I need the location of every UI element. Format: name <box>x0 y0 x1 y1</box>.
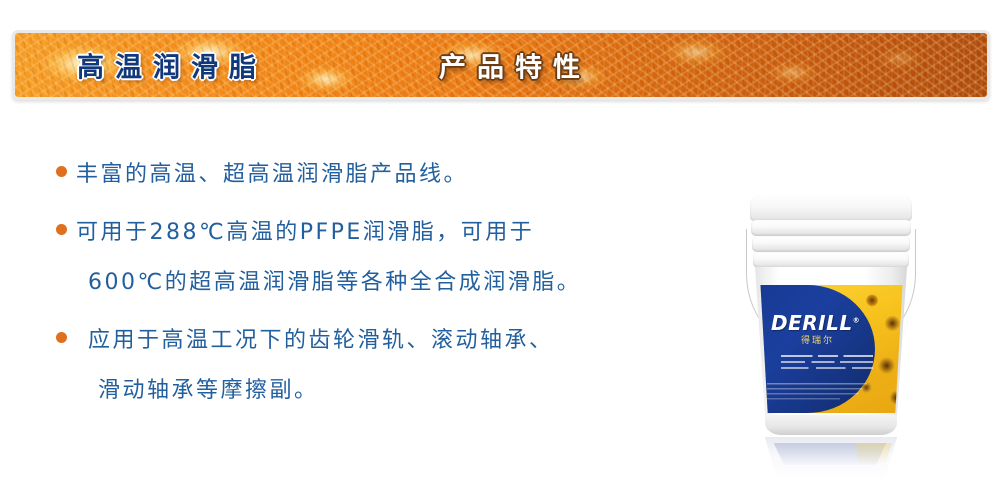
bullet-dot-icon <box>56 166 67 177</box>
pail-base <box>765 415 897 435</box>
product-image: DERILL® 得瑞尔 <box>736 193 926 483</box>
feature-text-line: 应用于高温工况下的齿轮滑轨、滚动轴承、 <box>76 316 732 366</box>
bullet-dot-icon <box>56 332 67 343</box>
pail-rib <box>751 220 911 236</box>
registered-trademark-icon: ® <box>853 316 861 324</box>
product-label: DERILL® 得瑞尔 <box>759 285 904 413</box>
label-spec-table <box>781 355 873 373</box>
list-item: 可用于288℃高温的PFPE润滑脂，可用于 600℃的超高温润滑脂等各种全合成润… <box>52 208 732 308</box>
page-subtitle: 产品特性 <box>439 46 591 85</box>
list-item: 丰富的高温、超高温润滑脂产品线。 <box>52 150 732 200</box>
brand-logo-cn: 得瑞尔 <box>801 333 834 346</box>
page-title: 高温润滑脂 <box>77 46 267 85</box>
brand-logo: DERILL® <box>771 311 860 335</box>
feature-text-line: 丰富的高温、超高温润滑脂产品线。 <box>76 150 732 200</box>
list-item: 应用于高温工况下的齿轮滑轨、滚动轴承、 滑动轴承等摩擦副。 <box>52 316 732 416</box>
feature-text-line: 滑动轴承等摩擦副。 <box>76 366 732 416</box>
grease-pail: DERILL® 得瑞尔 <box>744 193 918 435</box>
pail-rib <box>753 252 909 268</box>
feature-text-line: 600℃的超高温润滑脂等各种全合成润滑脂。 <box>76 258 732 308</box>
pail-rib <box>752 236 910 252</box>
label-fine-print <box>767 383 871 403</box>
bullet-dot-icon <box>56 224 67 235</box>
feature-list: 丰富的高温、超高温润滑脂产品线。 可用于288℃高温的PFPE润滑脂，可用于 6… <box>52 150 732 424</box>
brand-logo-text: DERILL <box>771 311 853 335</box>
pail-lid <box>750 195 912 221</box>
feature-text-line: 可用于288℃高温的PFPE润滑脂，可用于 <box>76 208 732 258</box>
section-banner: 高温润滑脂 产品特性 <box>12 30 990 100</box>
